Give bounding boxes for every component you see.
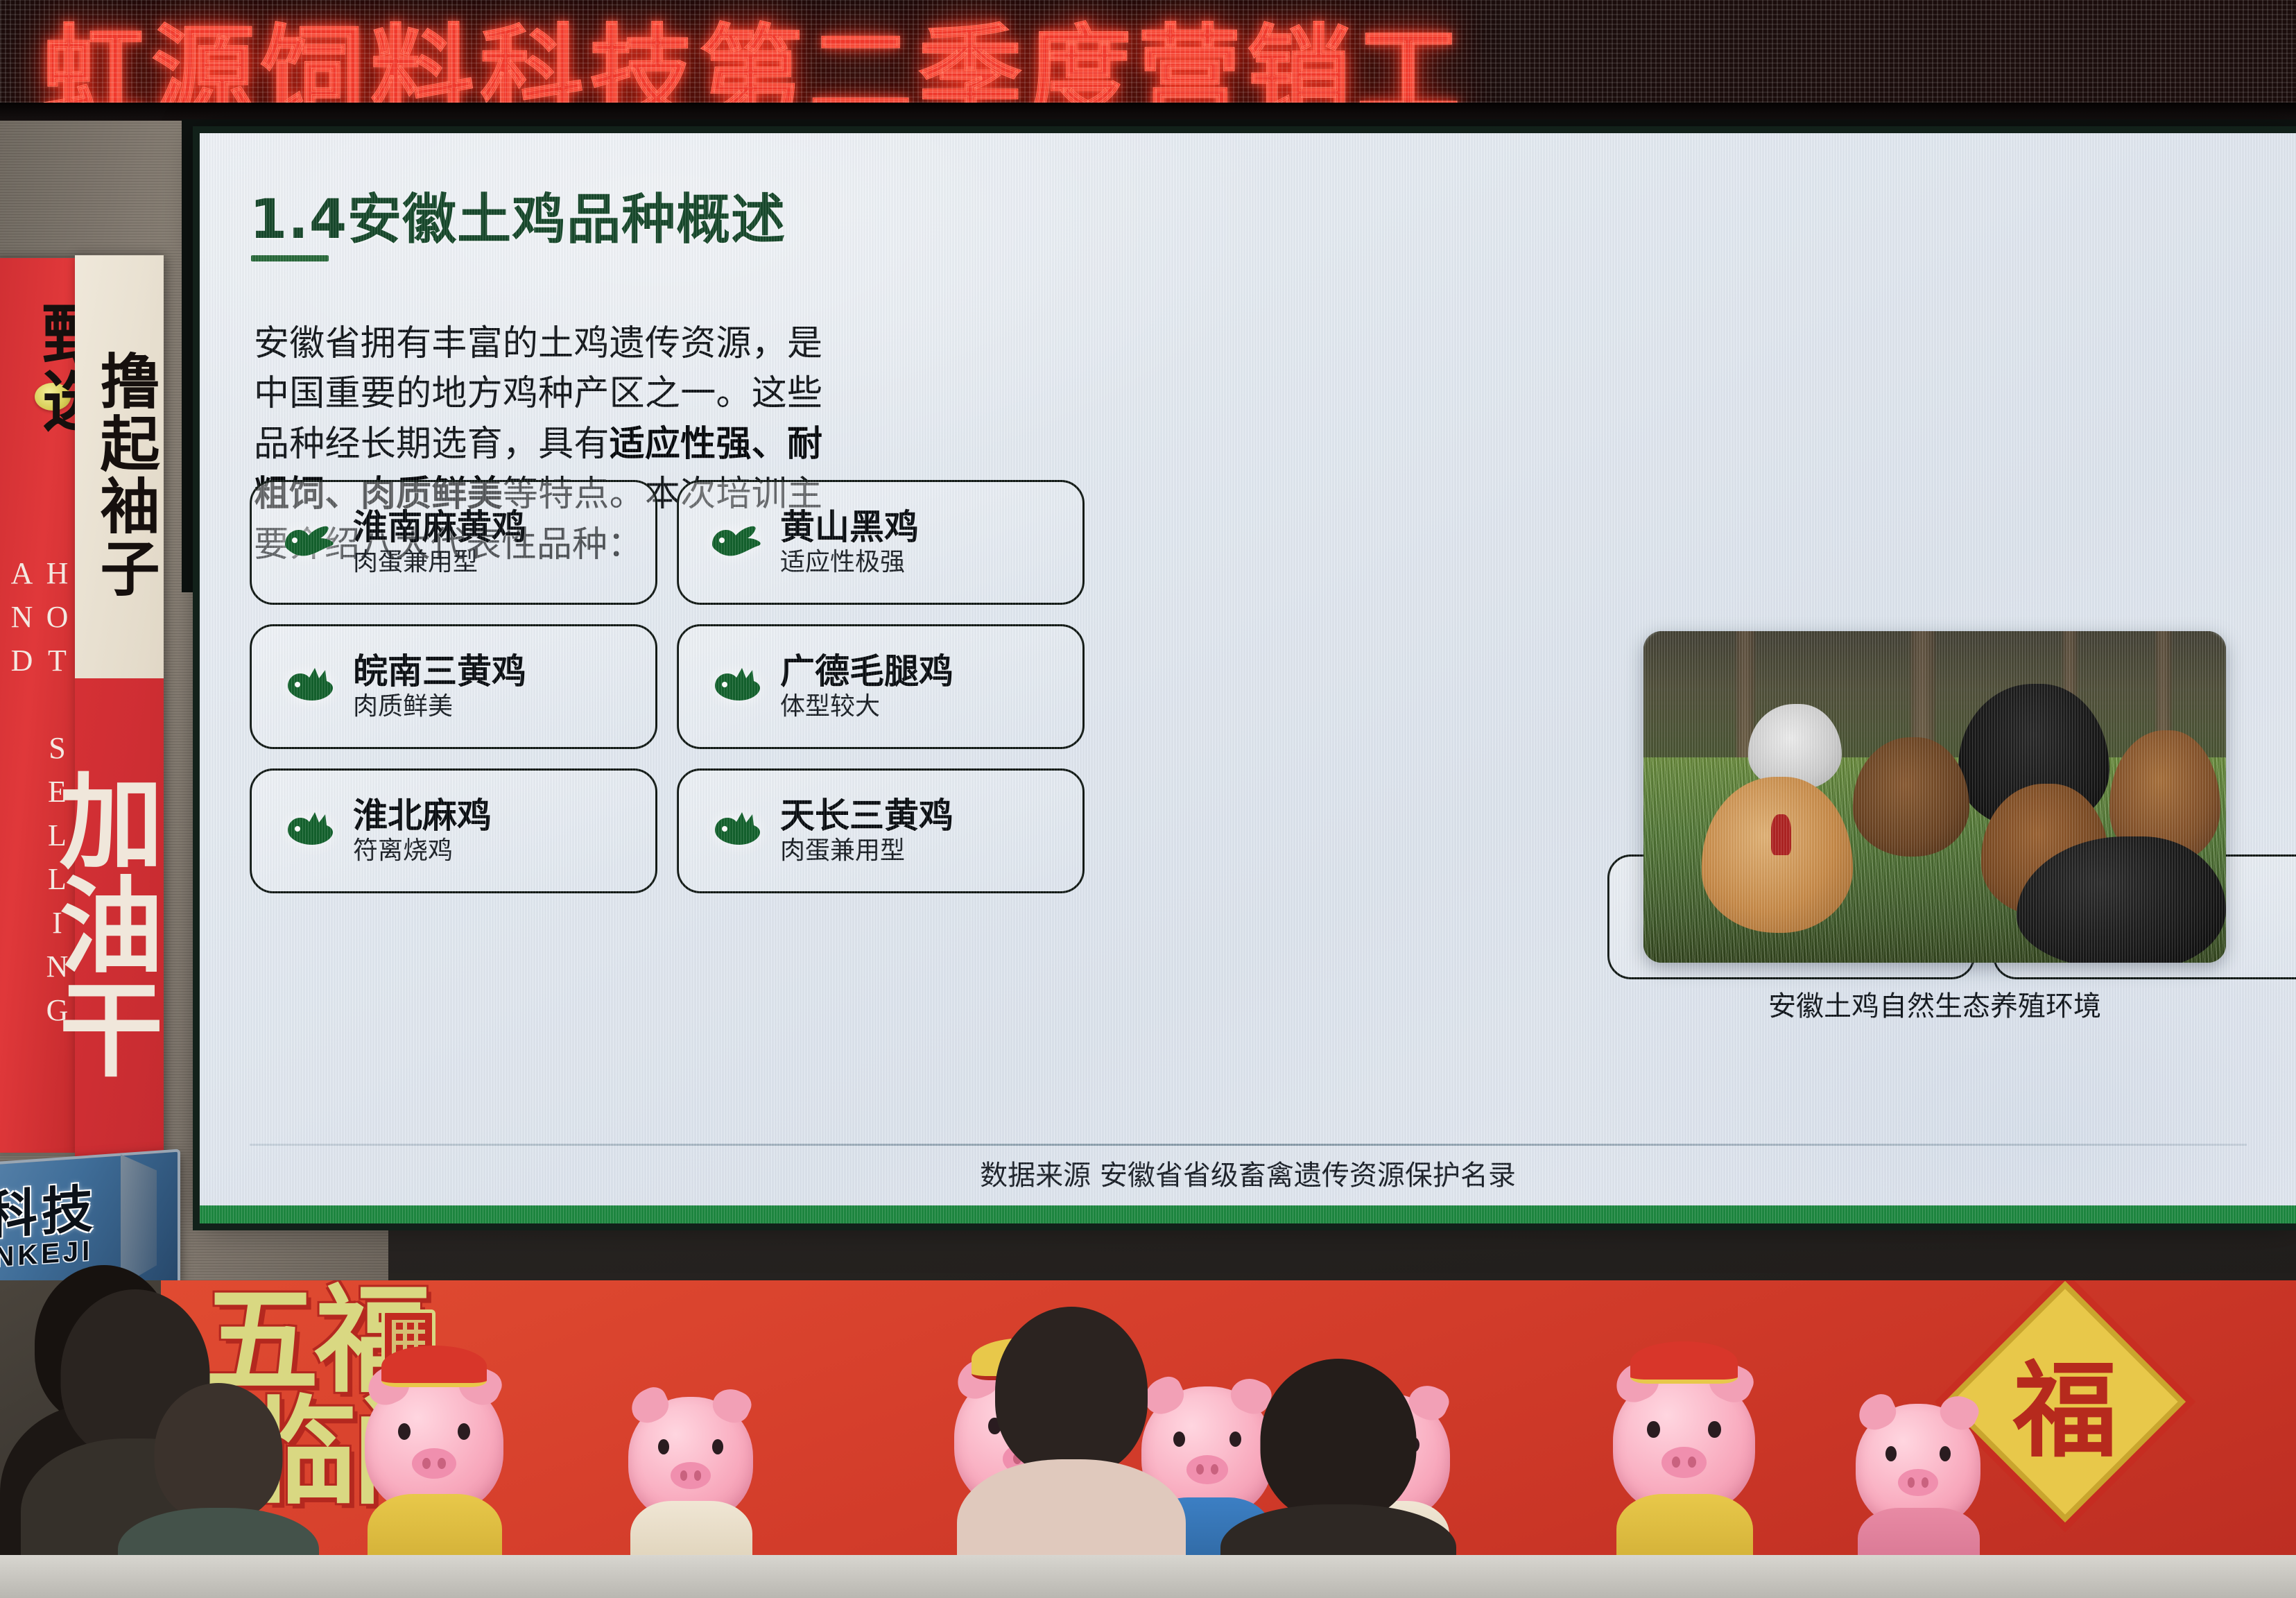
breed-subtitle: 适应性极强 xyxy=(780,549,919,576)
chicken-icon xyxy=(281,665,335,708)
breed-card[interactable]: 淮北麻鸡 符离烧鸡 xyxy=(250,768,657,893)
breed-card-text: 天长三黄鸡 肉蛋兼用型 xyxy=(780,798,953,864)
fu-character: 福 xyxy=(1985,1322,2145,1481)
chicken-comb xyxy=(1771,814,1790,854)
pig-eye xyxy=(712,1439,723,1454)
breed-card[interactable]: 天长三黄鸡 肉蛋兼用型 xyxy=(677,768,1085,893)
breed-subtitle: 体型较大 xyxy=(780,694,953,720)
breed-card[interactable]: 广德毛腿鸡 体型较大 xyxy=(677,624,1085,749)
breed-name: 天长三黄鸡 xyxy=(780,798,953,834)
presentation-slide[interactable]: 1.4安徽土鸡品种概述 安徽省拥有丰富的土鸡遗传资源，是中国重要的地方鸡种产区之… xyxy=(200,133,2296,1223)
breed-card-row-3: 淮北麻鸡 符离烧鸡 天长三黄鸡 肉蛋兼用型 xyxy=(250,768,1581,893)
breed-name: 广德毛腿鸡 xyxy=(780,653,953,690)
audience-head xyxy=(995,1307,1148,1477)
chicken-brown xyxy=(1853,737,1969,857)
pig-eye xyxy=(658,1439,669,1454)
footer-divider xyxy=(250,1144,2247,1146)
breed-card-text: 皖南三黄鸡 肉质鲜美 xyxy=(353,653,526,720)
breed-card-text: 广德毛腿鸡 体型较大 xyxy=(780,653,953,720)
banner-cream-calligraphy-top: 撸起袖子 xyxy=(75,279,164,667)
audience-head xyxy=(1261,1359,1417,1522)
pig-hat xyxy=(381,1346,487,1387)
pig-eye xyxy=(1708,1421,1720,1438)
pig-eye xyxy=(1940,1446,1951,1461)
slide-accent-bar xyxy=(200,1205,2296,1223)
breed-card[interactable]: 皖南三黄鸡 肉质鲜美 xyxy=(250,624,657,749)
led-marquee-banner: 虹源饲料科技第二季度营销工 xyxy=(0,0,2296,103)
pig-snout xyxy=(671,1462,711,1490)
breed-name: 淮南麻黄鸡 xyxy=(353,509,526,546)
pig-ear xyxy=(1935,1390,1983,1435)
front-table xyxy=(0,1555,2296,1598)
breed-subtitle: 肉蛋兼用型 xyxy=(780,838,953,864)
pig-eye xyxy=(1885,1446,1897,1461)
presentation-room-scene: 虹源饲料科技第二季度营销工 甄选 HOT SELLING AND 撸起袖子 加油… xyxy=(0,0,2296,1598)
chicken-buff xyxy=(1702,777,1853,933)
banner-cream-red-block: 加油干 xyxy=(75,678,164,1157)
chicken-icon xyxy=(708,665,762,708)
pig-snout xyxy=(1661,1447,1707,1478)
breed-subtitle: 肉质鲜美 xyxy=(353,694,526,720)
pig-eye xyxy=(458,1423,470,1440)
breed-card[interactable]: 淮南麻黄鸡 肉蛋兼用型 xyxy=(250,480,657,605)
chicken-icon xyxy=(281,521,335,564)
footer-source-text: 数据来源 安徽省省级畜禽遗传资源保护名录 xyxy=(200,1153,2296,1193)
pig-snout xyxy=(1898,1469,1938,1497)
breed-card[interactable]: 黄山黑鸡 适应性极强 xyxy=(677,480,1085,605)
breed-subtitle: 肉蛋兼用型 xyxy=(353,549,526,576)
breed-card-text: 淮北麻鸡 符离烧鸡 xyxy=(353,798,492,864)
breed-card-text: 黄山黑鸡 适应性极强 xyxy=(780,509,919,576)
led-banner-shadow xyxy=(0,103,2296,121)
banner-cream-calligraphy-bottom: 加油干 xyxy=(75,678,164,1157)
breed-card-text: 淮南麻黄鸡 肉蛋兼用型 xyxy=(353,509,526,576)
pig-eye xyxy=(398,1423,411,1440)
breed-card-row-2: 皖南三黄鸡 肉质鲜美 广德毛腿鸡 体型较大 xyxy=(250,624,1581,749)
title-underline xyxy=(251,255,329,261)
breed-card-grid: 淮南麻黄鸡 肉蛋兼用型 黄山黑鸡 适应性极强 xyxy=(250,480,1581,913)
chicken-icon xyxy=(708,521,762,564)
photo-caption: 安徽土鸡自然生态养殖环境 xyxy=(1643,983,2226,1024)
pig-ear xyxy=(625,1383,673,1428)
chicken-icon xyxy=(281,809,335,852)
hanging-banner-cream: 撸起袖子 加油干 xyxy=(75,255,164,1157)
pig-hat xyxy=(1630,1341,1738,1384)
farm-photo xyxy=(1643,631,2226,963)
pig-ear xyxy=(1853,1390,1900,1435)
pig-ear xyxy=(708,1383,755,1428)
pig-eye xyxy=(1647,1421,1659,1438)
pig-snout xyxy=(412,1448,456,1479)
slide-title: 1.4安徽土鸡品种概述 xyxy=(250,176,786,254)
farm-photo-content xyxy=(1643,631,2226,963)
led-banner-text: 虹源饲料科技第二季度营销工 xyxy=(42,0,1466,103)
breed-card-row-1: 淮南麻黄鸡 肉蛋兼用型 黄山黑鸡 适应性极强 xyxy=(250,480,1581,605)
breed-subtitle: 符离烧鸡 xyxy=(353,838,492,864)
breed-name: 黄山黑鸡 xyxy=(780,509,919,546)
chicken-icon xyxy=(708,809,762,852)
breed-name: 皖南三黄鸡 xyxy=(353,653,526,690)
breed-name: 淮北麻鸡 xyxy=(353,798,492,834)
audience-head xyxy=(155,1383,283,1522)
